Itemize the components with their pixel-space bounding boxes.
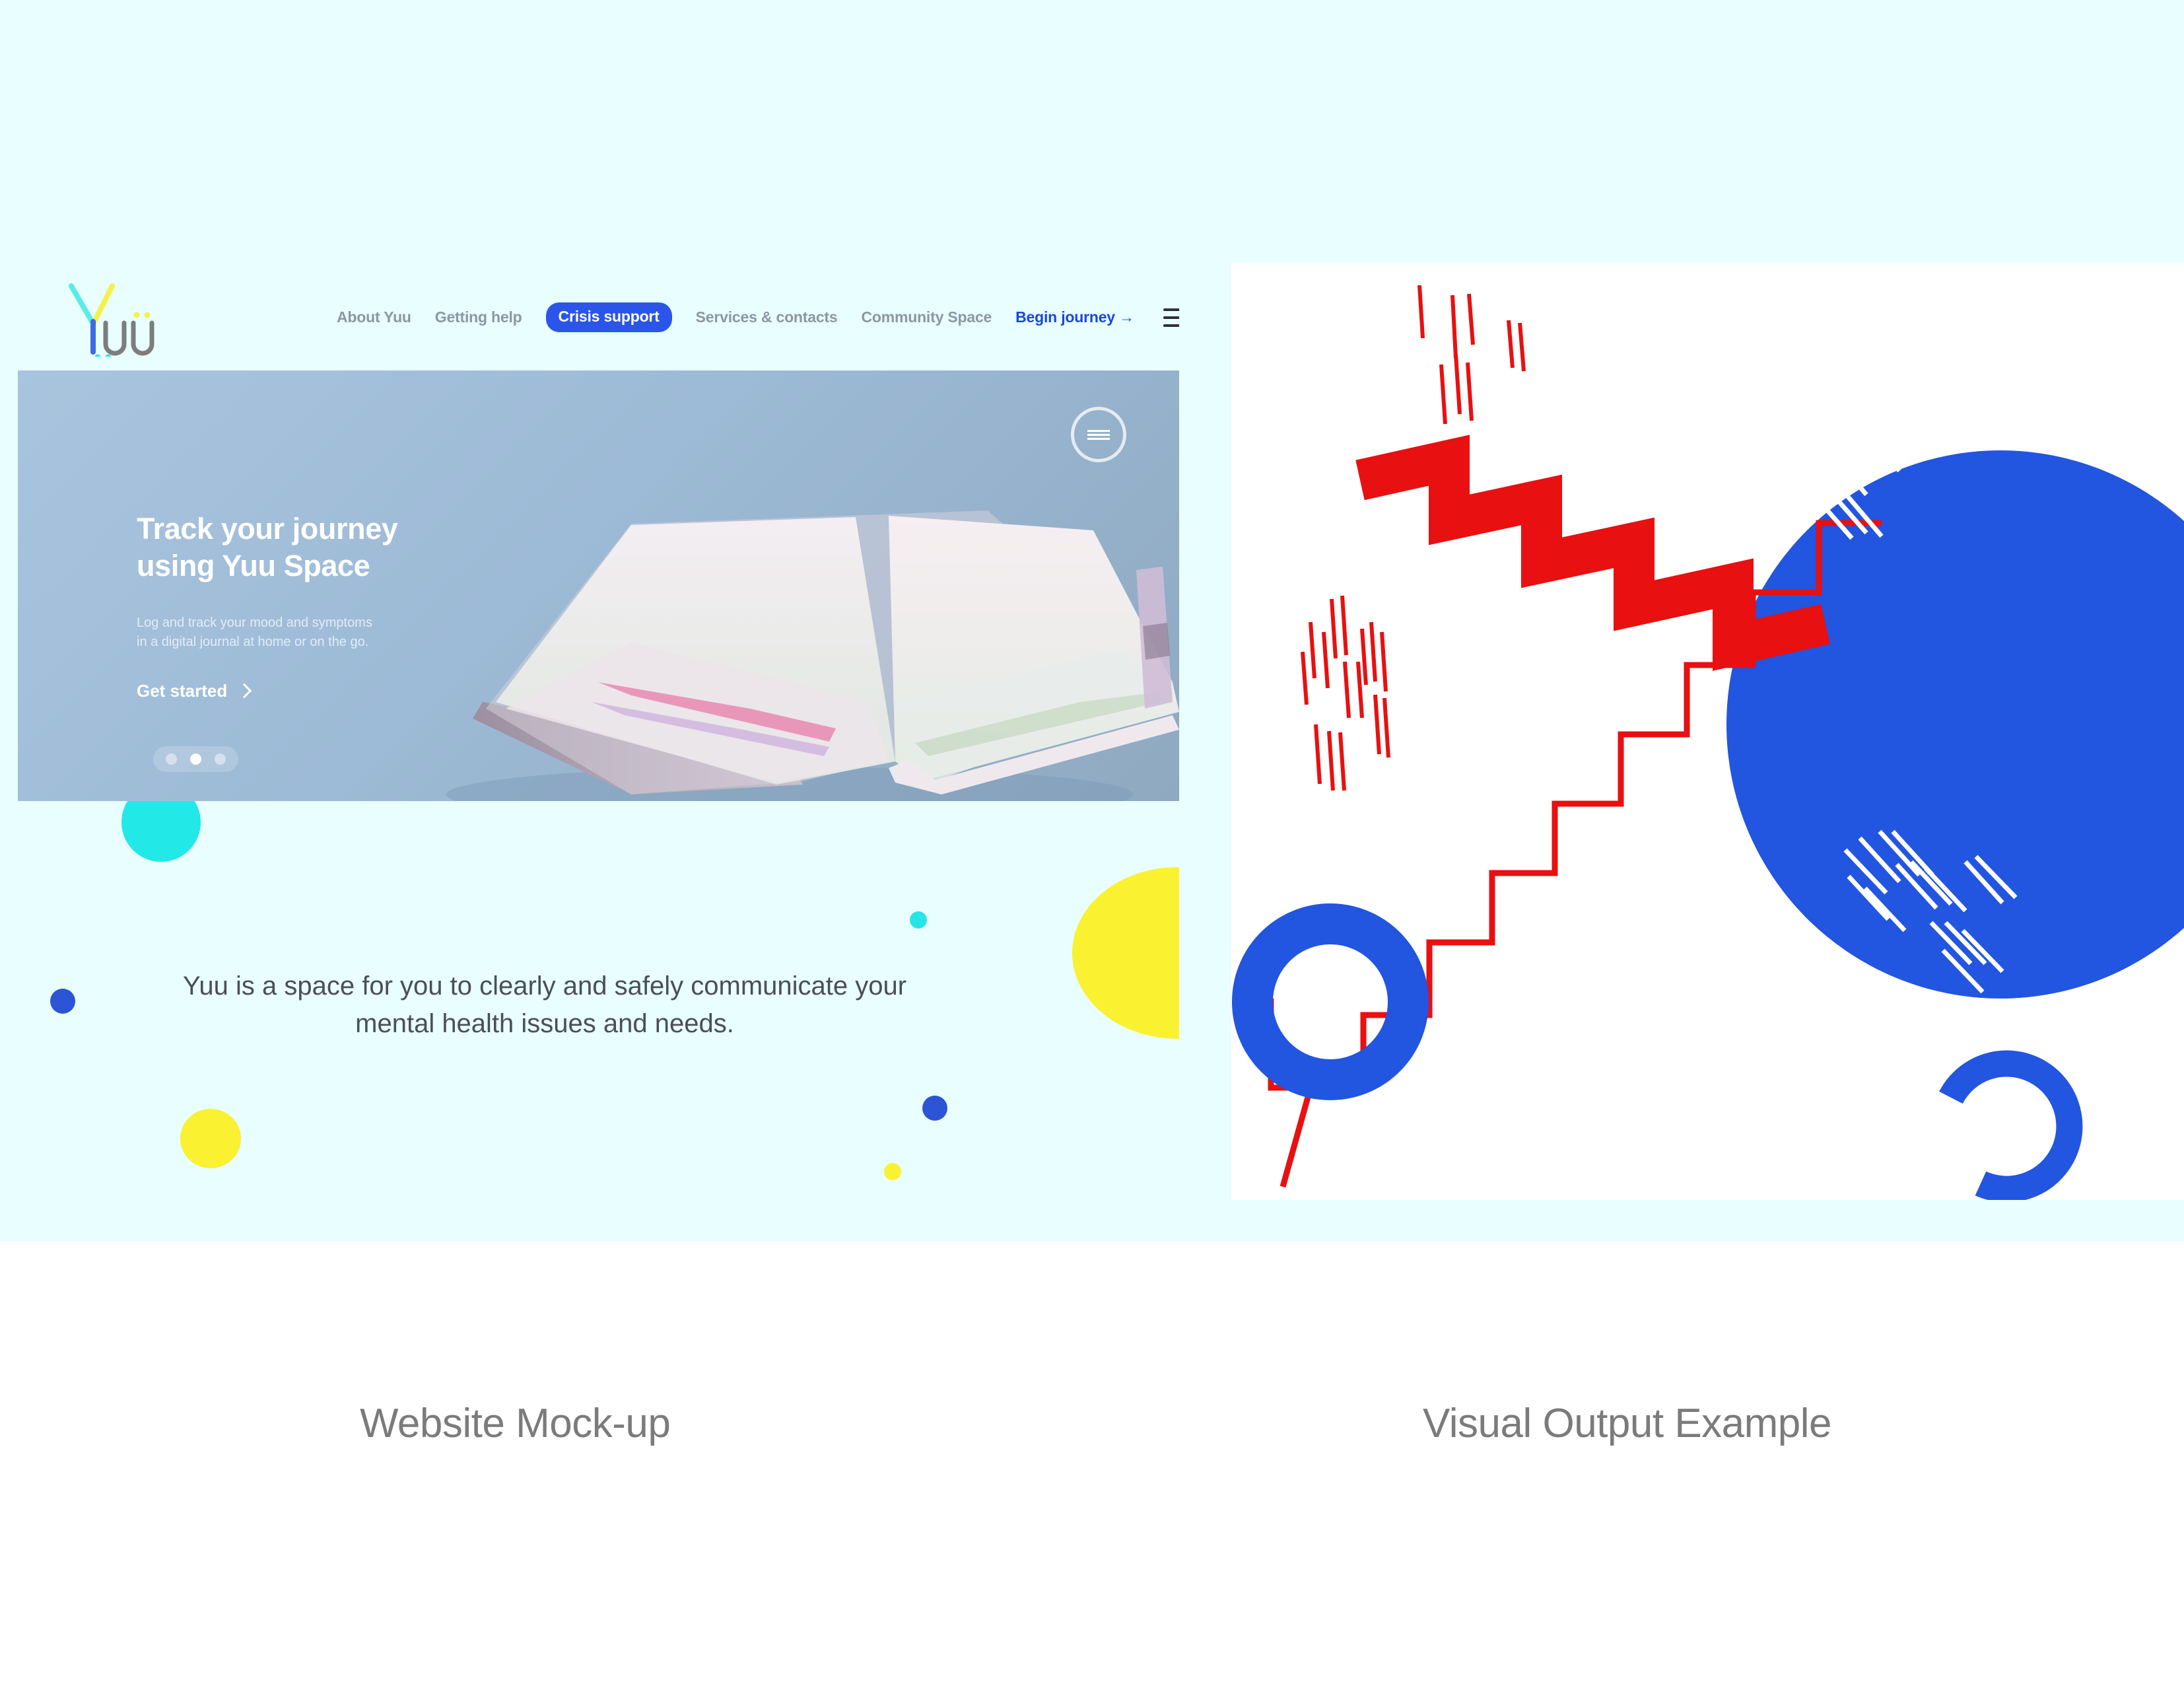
hero-subtitle: Log and track your mood and symptoms in … — [137, 614, 559, 652]
decor-semicircle-yellow — [1072, 867, 1179, 1039]
hero-cta-label: Get started — [137, 681, 227, 701]
red-tally-marks-top — [1419, 285, 1524, 424]
hero-title-line2: using Yuu Space — [137, 549, 370, 582]
carousel-dot-2[interactable] — [190, 754, 201, 765]
hero-title-line1: Track your journey — [137, 512, 397, 545]
decor-circle-yellow-large — [180, 1109, 241, 1168]
nav-item-begin-journey[interactable]: Begin journey → — [1015, 308, 1134, 326]
red-tally-marks-left — [1303, 596, 1388, 790]
blue-open-arc — [1951, 1064, 2069, 1189]
decor-dot-blue-small — [922, 1096, 947, 1121]
yuu-logo-mark — [57, 281, 169, 357]
carousel-dot-1[interactable] — [166, 754, 177, 765]
caption-website-mockup: Website Mock-up — [360, 1400, 670, 1447]
large-blue-circle — [1726, 450, 2184, 999]
hero-title: Track your journey using Yuu Space — [137, 510, 559, 584]
nav-item-about-yuu[interactable]: About Yuu — [337, 308, 411, 326]
chevron-right-icon — [237, 684, 252, 699]
hamburger-icon[interactable] — [1163, 308, 1179, 327]
nav-item-services-contacts[interactable]: Services & contacts — [696, 308, 838, 326]
yuu-logo[interactable] — [57, 281, 169, 357]
nav-item-crisis-support[interactable]: Crisis support — [546, 302, 672, 332]
nav-item-getting-help[interactable]: Getting help — [435, 308, 522, 326]
decor-dot-blue-left — [50, 989, 75, 1014]
caption-visual-output: Visual Output Example — [1423, 1400, 1831, 1447]
nav-item-community-space[interactable]: Community Space — [861, 308, 992, 326]
hero-subtitle-line2: in a digital journal at home or on the g… — [137, 635, 368, 649]
site-navigation-bar: About Yuu Getting help Crisis support Se… — [0, 264, 1179, 363]
blue-ring — [1252, 924, 1408, 1080]
visual-output-panel — [1231, 262, 2184, 1200]
website-mockup-panel: About Yuu Getting help Crisis support Se… — [0, 0, 1179, 1242]
tagline-text: Yuu is a space for you to clearly and sa… — [172, 967, 918, 1043]
abstract-composition — [1231, 262, 2184, 1200]
hero-subtitle-line1: Log and track your mood and symptoms — [137, 615, 372, 630]
hero-banner: Track your journey using Yuu Space Log a… — [18, 370, 1179, 801]
hero-copy: Track your journey using Yuu Space Log a… — [137, 510, 559, 701]
decor-dot-cyan-small — [910, 911, 927, 929]
decor-dot-yellow-small — [884, 1163, 901, 1180]
nav-links: About Yuu Getting help Crisis support Se… — [337, 302, 1179, 332]
carousel-dot-3[interactable] — [215, 754, 226, 765]
hero-get-started-link[interactable]: Get started — [137, 681, 250, 701]
carousel-dots[interactable] — [153, 746, 238, 772]
circle-hamburger-icon[interactable] — [1071, 407, 1126, 462]
